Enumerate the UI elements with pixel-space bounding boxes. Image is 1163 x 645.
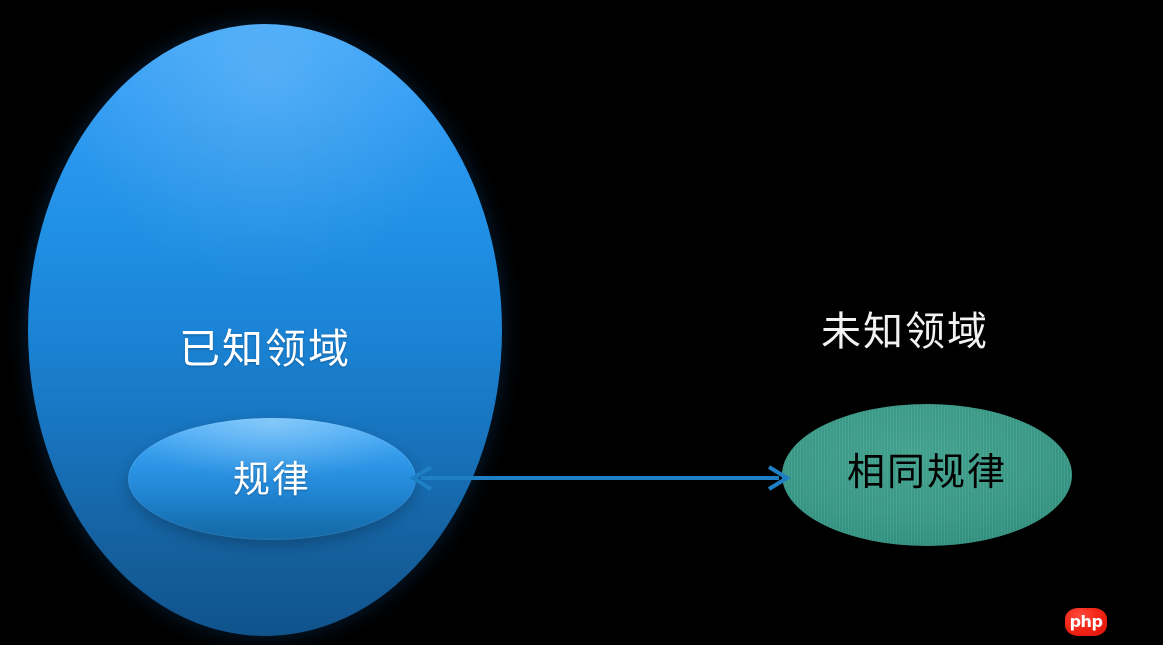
- slide-canvas: 已知领域 规律 未知领域 相同规律 php: [0, 0, 1163, 645]
- same-rule-label: 相同规律: [782, 454, 1072, 492]
- php-watermark-text: php: [1065, 608, 1107, 636]
- php-watermark-logo: php: [1065, 608, 1107, 636]
- rule-ellipse[interactable]: 规律: [128, 418, 416, 540]
- rule-label: 规律: [128, 462, 416, 499]
- same-rule-ellipse[interactable]: 相同规律: [782, 404, 1072, 546]
- known-domain-label: 已知领域: [28, 329, 502, 370]
- unknown-domain-label: 未知领域: [760, 312, 1050, 352]
- known-domain-ellipse[interactable]: 已知领域: [28, 24, 502, 636]
- double-headed-arrow-icon[interactable]: [405, 458, 795, 498]
